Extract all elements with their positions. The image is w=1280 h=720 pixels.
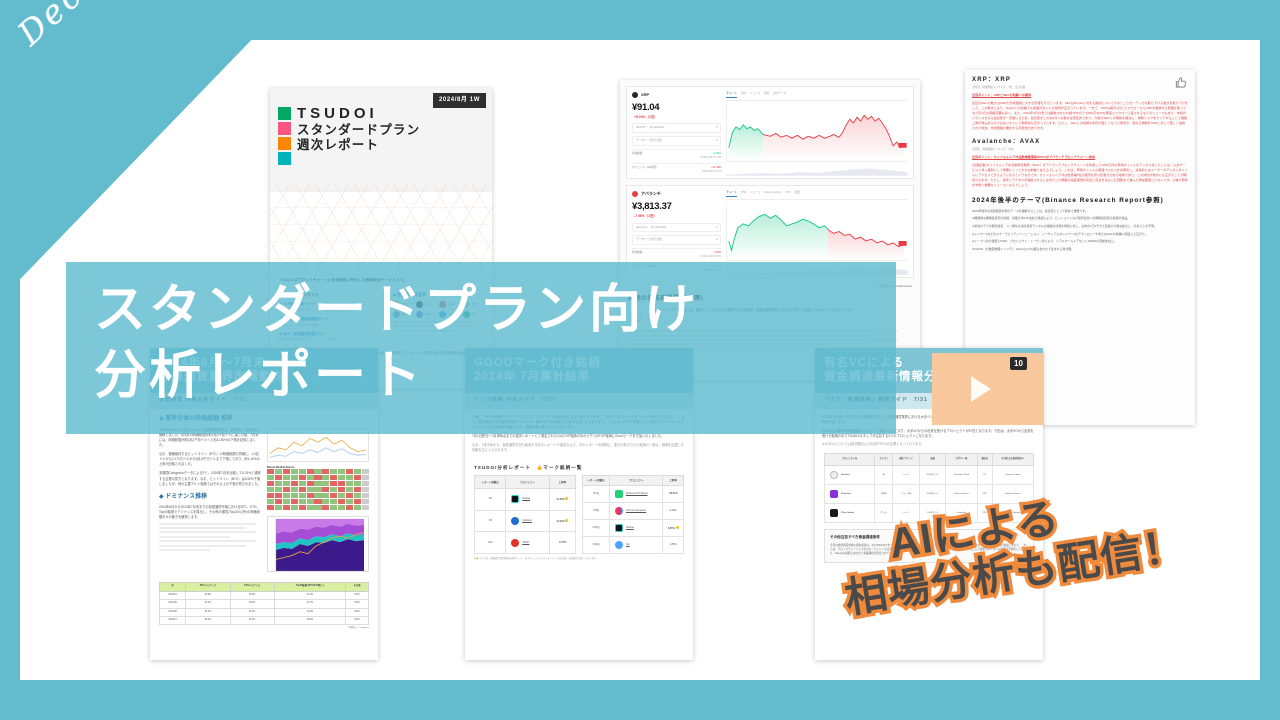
cell-project[interactable]: MultiversX Protocol xyxy=(626,492,648,496)
tab-news[interactable]: ニュース xyxy=(750,191,760,197)
market-table-caption: ※参照元：Coingecko xyxy=(159,627,369,630)
table-row: Sentient AI シード 8,500万ドル Founders Fund 7… xyxy=(825,466,1034,485)
tab-news[interactable]: ニュース xyxy=(750,92,760,98)
good-table-title-text: TSUDOI分析レポート 👍マーク銘柄一覧 xyxy=(474,465,582,472)
avax-section-sub: 大陸別、時価総額ランキング：12位 xyxy=(972,148,1188,152)
theme-item-1: ※革新のテクの経済改善：ミリ単位の決済資産デジタルの金融の内容を増加に対し、全体… xyxy=(972,224,1188,229)
xrp-body: 最近のSECの動きはXRPの市場価格に大きな影響を与えています。SECはRipp… xyxy=(972,101,1188,131)
cell-date: 7/2 xyxy=(977,466,992,485)
col-project: プロジェクト xyxy=(506,476,550,489)
col-btc-dom: BTCドミナンス xyxy=(186,583,230,591)
rank-box-label: Rank #12 ・ My Watchlist xyxy=(636,226,666,230)
cell-amount: 1,200万ドル xyxy=(919,504,946,523)
cell-date: 7/22日 xyxy=(583,537,610,554)
xrp-coin-icon xyxy=(632,92,638,98)
cell-date: 7/22日 xyxy=(583,520,610,537)
good-intro2: 7月1日終日～7月末時点までの週次レポートにて選定された13のTOP銘柄の中から… xyxy=(472,434,686,439)
cell-vc: Founders Fund xyxy=(946,466,977,485)
cardano-logo-icon xyxy=(511,517,519,525)
cell-round: シード xyxy=(893,466,919,485)
cell-project: Plumenet xyxy=(841,493,851,496)
vc-note-title: その他注目すべき資金調達案件 xyxy=(830,535,1028,541)
rank-box-label: Rank #7 ・ My Watchlist xyxy=(636,126,664,130)
price-change: -7.96%（1日） xyxy=(634,214,721,219)
vc-table: プロジェクト名 カテゴリ 調達 ラウンド 金額 大手VC一覧 調達日 その他 主… xyxy=(824,453,1034,523)
cell-gain: -18.01% xyxy=(663,486,684,503)
cell-gain: 13.04% xyxy=(549,510,575,532)
table-row: 7/8 Cardano 13.04% xyxy=(475,510,576,532)
cell-date: 7/8 xyxy=(475,488,506,510)
page-number-badge: 10 xyxy=(1010,357,1027,370)
good-footnote: ※👍マークは、掲載週の翌月終値を基準として、各プロジェクトのパフォーマンスを比較… xyxy=(465,554,693,565)
price-symbol-row: アバランチ xyxy=(632,191,721,197)
theme-item-3: ※トークン化の進展とRWA：プロジェクト・トークン化により、リアルワールドアセッ… xyxy=(972,239,1188,244)
stat-label: 時価総額 xyxy=(632,152,642,156)
table-row: 7/22 TRON -6.77% xyxy=(475,532,576,554)
stat-marketcap: 時価総額 -7.84% xyxy=(632,248,721,255)
vc-intro3: ※大手VCについては投資額および出資TOP10の企業となっております。 xyxy=(822,442,1036,447)
avax-section-heading: Avalanche：AVAX xyxy=(972,138,1188,147)
price-card-xrp[interactable]: XRP ¥91.04 +8.03%（1日） Rank #7 ・ My Watch… xyxy=(626,86,914,179)
cell: 14.4% xyxy=(230,616,274,624)
returns-heatmap xyxy=(267,469,369,510)
cell-project[interactable]: Internet Computer xyxy=(626,509,646,513)
cover-issue-badge: 2024/8月 1W xyxy=(433,93,486,108)
market-body3: 本期間CoingeckoデータによるPと、2024年7月末比較して6.33%と通… xyxy=(159,471,261,486)
tab-stats[interactable]: 統計データ xyxy=(773,92,786,98)
cell: 8.6% xyxy=(346,591,369,599)
cell-vc: Dragonfly xyxy=(946,504,977,523)
cell-date: 7/1日 xyxy=(583,486,610,503)
col-gain: 上昇率 xyxy=(663,476,684,486)
cell-project[interactable]: Cardano xyxy=(522,519,532,523)
col-project: プロジェクト xyxy=(609,476,662,486)
table-row: 2024/06 55.1% 14.9% 21.2% 8.8% xyxy=(160,608,369,616)
cell-gain: 1.85% xyxy=(663,537,684,554)
cell-date: 7/22 xyxy=(475,532,506,554)
tron-logo-icon xyxy=(511,539,519,547)
cell: 2024/05 xyxy=(160,600,186,608)
stat-label: ボリューム（24時間） xyxy=(632,166,658,170)
cover-kind: 週次レポート xyxy=(297,138,420,154)
table-header-row: レポート掲載日 プロジェクト 上昇率 xyxy=(583,476,684,486)
convert-box-label: データソース別で比較 xyxy=(636,238,662,242)
cell-amount: 8,500万ドル xyxy=(919,466,946,485)
avax-point: 注目ポイント：カリフォルニア州自動車管理局(DMV)のアバランチブロックチェーン… xyxy=(972,155,1188,160)
tab-value-analytics[interactable]: Value Analytics xyxy=(764,191,781,197)
multiversx-logo-icon xyxy=(615,490,623,498)
avax-body: (出典記事)カリフォルニア州自動車管理局（DMV）がアバランチブロックチェーンを… xyxy=(972,163,1188,188)
cell-project[interactable]: TRON xyxy=(522,541,529,545)
cell-project[interactable]: Sui xyxy=(626,543,630,547)
col-vc: 大手VC一覧 xyxy=(946,454,977,466)
overlay-title-line1: スタンダードプラン向け xyxy=(94,284,896,336)
cell-date: 7/10 xyxy=(977,485,992,504)
price-change: +8.03%（1日） xyxy=(634,115,721,120)
cell-project[interactable]: Solana xyxy=(522,497,530,501)
title-overlay-band: スタンダードプラン向け 分析レポート xyxy=(66,262,896,434)
overlay-title-line2: 分析レポート xyxy=(94,350,896,402)
cell-other-vc: Animoca Brands xyxy=(992,504,1033,523)
stat-value: ¥1,502,636,845,870 xyxy=(632,255,721,259)
chart-tabs[interactable]: チャート 市場 ニュース Value Analytics BTC 概要 xyxy=(726,191,908,200)
cell: 54.2% xyxy=(186,600,230,608)
cell-date: 7/18 xyxy=(977,504,992,523)
cell-category: ゲーム xyxy=(875,504,893,523)
tab-chart[interactable]: チャート xyxy=(726,92,736,98)
convert-box[interactable]: データソース別で比較▾ xyxy=(632,136,721,146)
tab-markets[interactable]: 市場 xyxy=(741,191,746,197)
theme-lead: 2024年後半の仮想通貨市場のテーマを理解することは、投資家にとって極めて重要で… xyxy=(972,209,1188,214)
cell-date: 7/8日 xyxy=(583,503,610,520)
col-amount: 金額 xyxy=(919,454,946,466)
convert-box-label: データソース別で比較 xyxy=(636,139,662,143)
stat-value: ¥558,683,673,149 xyxy=(632,170,721,174)
cell: 2024/06 xyxy=(160,608,186,616)
rank-box[interactable]: Rank #7 ・ My Watchlist▾ xyxy=(632,123,721,133)
price-symbol-row: XRP xyxy=(632,92,721,98)
cell-gain: 41.25% xyxy=(549,488,575,510)
internet-computer-logo-icon xyxy=(615,507,623,515)
cell-project: Pluto Studio xyxy=(841,512,854,515)
tab-chart[interactable]: チャート xyxy=(726,191,736,197)
cell: 8.9% xyxy=(346,600,369,608)
cell-gain: 6.25% xyxy=(663,503,684,520)
table-row: Pluto Studio ゲーム シード 1,200万ドル Dragonfly … xyxy=(825,504,1034,523)
market-section2-heading: ◆ ドミナンス推移 xyxy=(159,487,261,502)
tab-about[interactable]: 概要 xyxy=(795,191,800,197)
stat-value: ¥5,056,186,575,198 xyxy=(632,156,721,160)
vc-note-body: 今月の仮想通貨市場の資金調達は、AIとRWAセクターに集中する傾向が続いています… xyxy=(830,544,1028,556)
cell-amount: 2,000万ドル xyxy=(919,485,946,504)
swatch-pink xyxy=(278,122,291,135)
table-header-row: 月 BTCドミナンス ETHドミナンス Top50銘柄 (BTC/ETH除く) … xyxy=(160,583,369,591)
table-row: 7/1日 MultiversX Protocol -18.01% xyxy=(583,486,684,503)
price-chart-xrp xyxy=(726,104,908,162)
table-row: 7/22日 Solana 5.85% xyxy=(583,520,684,537)
sentient-logo-icon xyxy=(830,471,838,479)
cell-category: AI xyxy=(875,466,893,485)
thumbs-up-icon xyxy=(1174,76,1188,90)
solana-logo-icon xyxy=(615,524,623,532)
cell: 20.6% xyxy=(274,616,345,624)
cell-project: Sentient xyxy=(841,474,850,477)
good-flag-icon xyxy=(565,519,568,522)
xrp-point-text: 注目ポイント：XRPとSECの和解への期待 xyxy=(972,93,1031,97)
col-project: プロジェクト名 xyxy=(825,454,875,466)
table-row: 7/22日 Sui 1.85% xyxy=(583,537,684,554)
cell-round: シード xyxy=(893,504,919,523)
good-flag-icon xyxy=(565,497,568,500)
cell: 22.1% xyxy=(274,591,345,599)
tab-markets[interactable]: 市場 xyxy=(741,92,746,98)
stat-change: +31.18% xyxy=(711,166,721,170)
cell: 55.1% xyxy=(186,608,230,616)
xrp-point: 注目ポイント：XRPとSECの和解への期待 xyxy=(972,93,1188,98)
chart-tabs[interactable]: チャート 市場 ニュース 概要 統計データ xyxy=(726,92,908,101)
cell-vc: Haun Ventures xyxy=(946,485,977,504)
cell-gain: -6.77% xyxy=(549,532,575,554)
plumenet-logo-icon xyxy=(830,490,838,498)
volume-chart-xrp xyxy=(726,163,908,172)
avax-coin-icon xyxy=(632,191,638,197)
table-header-row: レポート掲載日 プロジェクト 上昇率 xyxy=(475,476,576,489)
xrp-section-sub: 大陸別、時価総額ランキング：7位、ほか記載 xyxy=(972,86,1170,90)
cell: 56.4% xyxy=(186,616,230,624)
good-table-left: レポート掲載日 プロジェクト 上昇率 7/8 Solana 41.25% 7/8… xyxy=(474,475,576,554)
col-gain: 上昇率 xyxy=(549,476,575,489)
tab-about[interactable]: 概要 xyxy=(764,92,769,98)
cell-project[interactable]: Solana xyxy=(626,526,634,530)
price-chart-avax xyxy=(726,203,908,261)
brand-swatches xyxy=(278,106,291,165)
col-date: レポート掲載日 xyxy=(583,476,610,486)
swatch-teal xyxy=(278,152,291,165)
cover-plan: スタンダードプラン xyxy=(297,123,420,139)
cell: 2024/07 xyxy=(160,616,186,624)
col-month: 月 xyxy=(160,583,186,591)
cell: 21.2% xyxy=(274,608,345,616)
good-intro3: なお、7月中旬から、仮想通貨市況も暴落する前のレポートや直前および、次のレポート… xyxy=(472,443,686,453)
xrp-section-heading: XRP：XRP xyxy=(972,76,1170,85)
table-row: Plumenet RWA シリーズA 2,000万ドル Haun Venture… xyxy=(825,485,1034,504)
avax-point-text: 注目ポイント：カリフォルニア州自動車管理局(DMV)のアバランチブロックチェーン… xyxy=(972,155,1095,159)
table-row: 2024/05 54.2% 15.2% 21.7% 8.9% xyxy=(160,600,369,608)
cell-gain: 5.85% xyxy=(663,520,684,537)
dominance-area-chart xyxy=(267,516,369,572)
col-round: 調達 ラウンド xyxy=(893,454,919,466)
price-symbol: XRP xyxy=(641,92,649,98)
cell-category: RWA xyxy=(875,485,893,504)
tab-btc[interactable]: BTC xyxy=(786,191,791,197)
col-eth-dom: ETHドミナンス xyxy=(230,583,274,591)
convert-box[interactable]: データソース別で比較▴ xyxy=(632,235,721,245)
cell-other-vc: Pantera Capital xyxy=(992,466,1033,485)
video-thumbnail-overlay[interactable] xyxy=(932,353,1044,425)
rank-box[interactable]: Rank #12 ・ My Watchlist▾ xyxy=(632,223,721,233)
good-table-right: レポート掲載日 プロジェクト 上昇率 7/1日 MultiversX Proto… xyxy=(582,475,684,554)
cell-round: シリーズA xyxy=(893,485,919,504)
dominance-table: 月 BTCドミナンス ETHドミナンス Top50銘柄 (BTC/ETH除く) … xyxy=(159,582,369,625)
col-category: カテゴリ xyxy=(875,454,893,466)
good-flag-icon xyxy=(676,526,679,529)
market-body2: なお、価格維持するビットコイン（BTC）の時価総額も同様に、1.0兆ドルから2,… xyxy=(159,452,261,467)
cell-other-vc: Galaxy Ventures xyxy=(992,485,1033,504)
theme-item-4: ※DePIN（分散型物理インフラ）：Web3とIoTの組み合わせで生まれる新分野… xyxy=(972,247,1188,252)
swatch-green xyxy=(278,107,291,120)
vc-note-box: その他注目すべき資金調達案件 今月の仮想通貨市場の資金調達は、AIとRWAセクタ… xyxy=(824,529,1034,562)
price-value: ¥3,813.37 xyxy=(632,200,721,214)
price-value: ¥91.04 xyxy=(632,101,721,115)
theme-item-0: ※機関的な機関投資家の採用：米国大手ETF会社の承認により、ビットコインなど暗号… xyxy=(972,216,1188,221)
table-row: 2024/04 53.5% 15.8% 22.1% 8.6% xyxy=(160,591,369,599)
good-table-title: TSUDOI分析レポート 👍マーク銘柄一覧 xyxy=(465,459,693,475)
cell: 21.7% xyxy=(274,600,345,608)
table-row: 7/8 Solana 41.25% xyxy=(475,488,576,510)
col-date: レポート掲載日 xyxy=(475,476,506,489)
theme-item-2: ※レイヤー2などのスケーラビリティソリューション：イーサリアムのレイヤー2のテク… xyxy=(972,232,1188,237)
cell: 15.2% xyxy=(230,600,274,608)
table-row: 2024/07 56.4% 14.4% 20.6% 8.6% xyxy=(160,616,369,624)
brand-name: TSUDOI xyxy=(297,106,420,123)
cell: 8.6% xyxy=(346,616,369,624)
cell: 8.8% xyxy=(346,608,369,616)
stat-volume: ボリューム（24時間） +31.18% xyxy=(632,163,721,170)
col-date: 調達日 xyxy=(977,454,992,466)
stat-marketcap: 時価総額 +1.81% xyxy=(632,149,721,156)
cell: 53.5% xyxy=(186,591,230,599)
price-symbol: アバランチ xyxy=(641,191,661,197)
theme-heading: 2024年後半のテーマ(Binance Research Report参照) xyxy=(972,196,1188,206)
swatch-orange xyxy=(278,137,291,150)
sui-logo-icon xyxy=(615,541,623,549)
pluto-studio-logo-icon xyxy=(830,509,838,517)
cell: 14.9% xyxy=(230,608,274,616)
solana-logo-icon xyxy=(511,495,519,503)
poster-canvas: 2024/8月 1W TSUDOI スタンダードプラン 週次レポート TSUDO… xyxy=(0,0,1280,720)
cover-header: 2024/8月 1W TSUDOI スタンダードプラン 週次レポート xyxy=(270,88,492,192)
table-row: 7/8日 Internet Computer 6.25% xyxy=(583,503,684,520)
col-others: その他 xyxy=(346,583,369,591)
cell: 2024/04 xyxy=(160,591,186,599)
col-top50: Top50銘柄 (BTC/ETH除く) xyxy=(274,583,345,591)
play-triangle-icon[interactable] xyxy=(971,376,991,402)
market-body4: 2024年6月から2024年7月末までの仮想通貨市場におけるBTC、ETH、To… xyxy=(159,505,261,520)
col-other-vc: その他 主な調達参加VC xyxy=(992,454,1033,466)
stat-label: 時価総額 xyxy=(632,251,642,255)
table-header-row: プロジェクト名 カテゴリ 調達 ラウンド 金額 大手VC一覧 調達日 その他 主… xyxy=(825,454,1034,466)
cell-date: 7/8 xyxy=(475,510,506,532)
cell: 15.8% xyxy=(230,591,274,599)
